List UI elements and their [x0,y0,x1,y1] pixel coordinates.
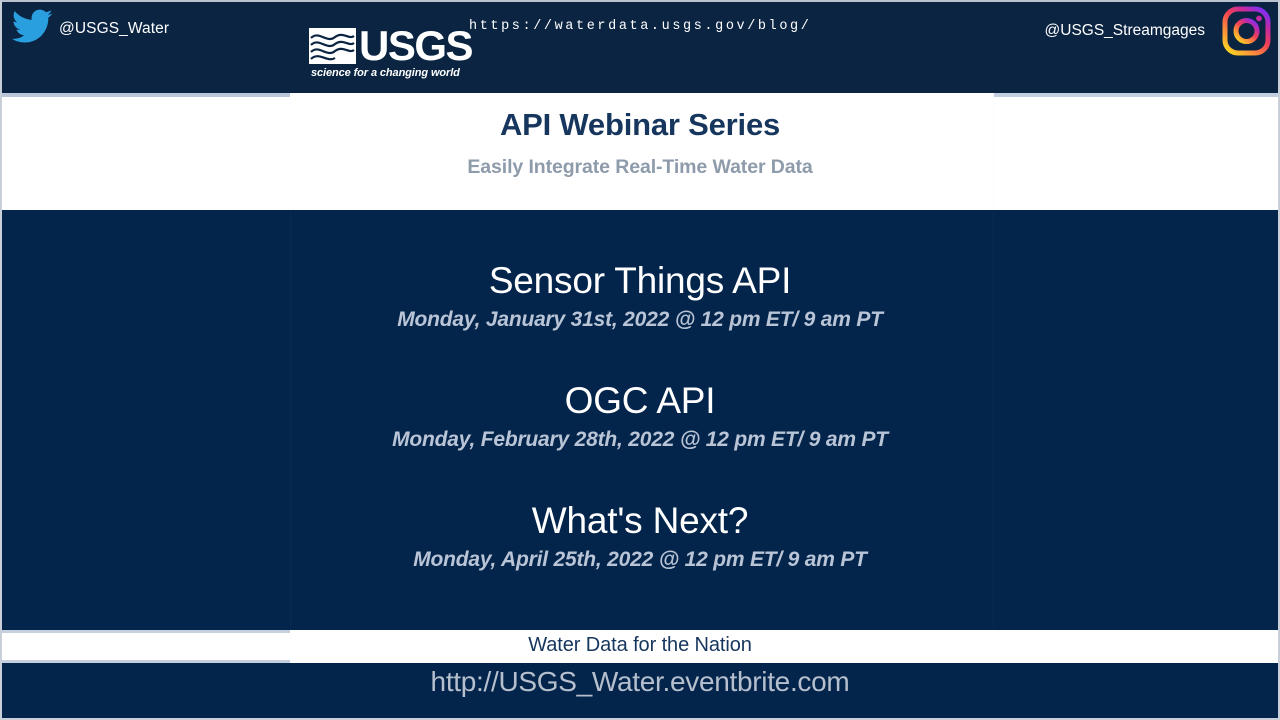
page-subtitle: Easily Integrate Real-Time Water Data [2,156,1278,179]
webinar-datetime: Monday, January 31st, 2022 @ 12 pm ET/ 9… [2,306,1278,334]
webinar-datetime: Monday, February 28th, 2022 @ 12 pm ET/ … [2,426,1278,454]
title-band: API Webinar Series Easily Integrate Real… [2,93,1278,210]
usgs-wordmark: USGS [359,25,472,67]
instagram-handle-label: @USGS_Streamgages [1045,22,1205,40]
title-band-cap-left [2,93,290,97]
twitter-handle-label: @USGS_Water [59,20,169,38]
registration-panel: http://USGS_Water.eventbrite.com [2,663,1278,718]
webinar-entry: What's Next? Monday, April 25th, 2022 @ … [2,498,1278,574]
main-content-panel: Sensor Things API Monday, January 31st, … [2,210,1278,630]
blog-url-label[interactable]: https://waterdata.usgs.gov/blog/ [469,19,811,34]
registration-url[interactable]: http://USGS_Water.eventbrite.com [2,666,1278,698]
webinar-title: Sensor Things API [2,258,1278,304]
webinar-title: What's Next? [2,498,1278,544]
twitter-bird-icon[interactable] [10,8,54,48]
webinar-entry: OGC API Monday, February 28th, 2022 @ 12… [2,378,1278,454]
usgs-logo: USGS science for a changing world [309,28,459,83]
usgs-tagline: science for a changing world [311,67,460,79]
header-bar: @USGS_Water USGS science for a changing … [2,2,1278,93]
usgs-wave-mark-icon [309,28,356,64]
footer-band: Water Data for the Nation [2,630,1278,663]
instagram-icon[interactable] [1219,4,1274,59]
page-title: API Webinar Series [2,107,1278,143]
webinar-title: OGC API [2,378,1278,424]
footer-tagline: Water Data for the Nation [2,634,1278,657]
webinar-datetime: Monday, April 25th, 2022 @ 12 pm ET/ 9 a… [2,546,1278,574]
footer-band-cap-top [2,630,290,633]
slide-canvas: @USGS_Water USGS science for a changing … [0,0,1280,720]
webinar-entry: Sensor Things API Monday, January 31st, … [2,258,1278,334]
title-band-cap-right [993,93,1278,97]
